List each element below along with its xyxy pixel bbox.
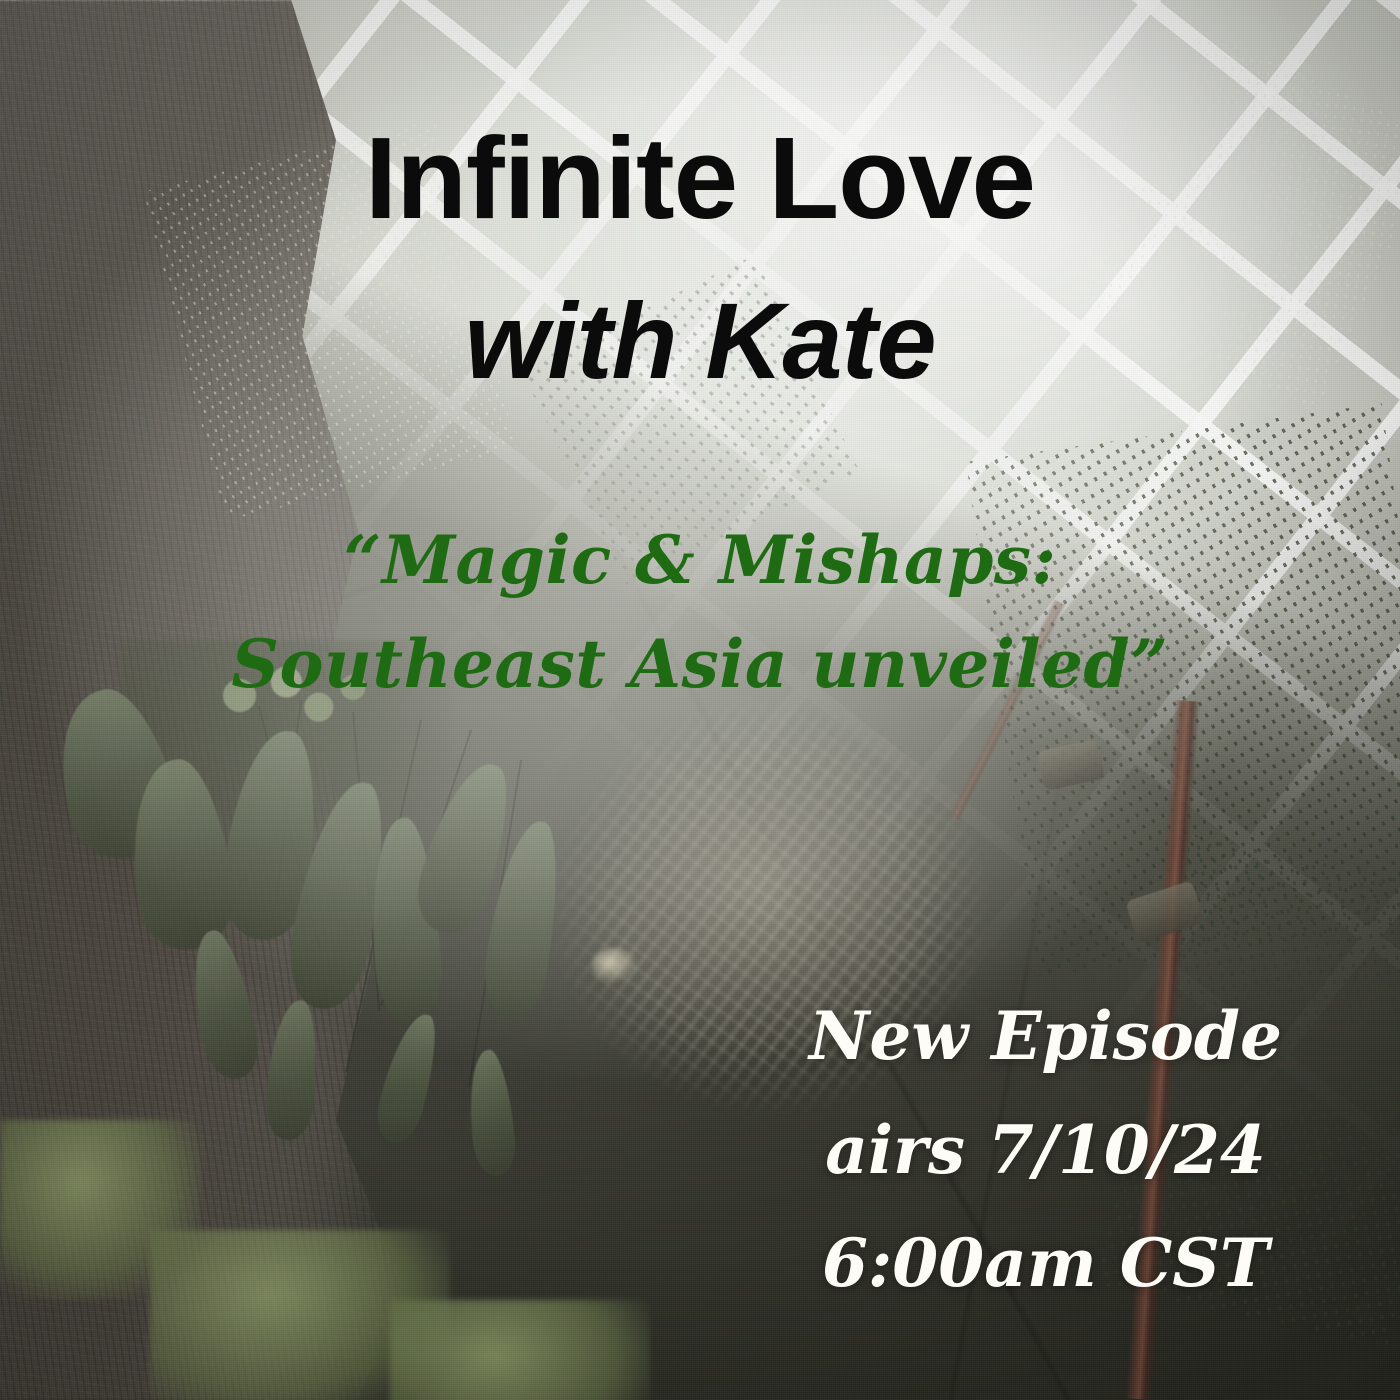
episode-title-block: “Magic & Mishaps: Southeast Asia unveile…	[0, 508, 1400, 717]
episode-title-line1: “Magic & Mishaps:	[0, 508, 1400, 612]
airtime-line-new-episode: New Episode	[809, 980, 1282, 1094]
show-title-line1: Infinite Love	[0, 118, 1400, 239]
podcast-episode-poster: Infinite Love with Kate “Magic & Mishaps…	[0, 0, 1400, 1400]
show-title-line2: with Kate	[0, 281, 1400, 402]
show-title-block: Infinite Love with Kate	[0, 118, 1400, 402]
airtime-line-date: airs 7/10/24	[809, 1094, 1282, 1208]
airtime-block: New Episode airs 7/10/24 6:00am CST	[809, 980, 1282, 1321]
airtime-line-time: 6:00am CST	[809, 1207, 1282, 1321]
episode-title-line2: Southeast Asia unveiled”	[0, 612, 1400, 716]
